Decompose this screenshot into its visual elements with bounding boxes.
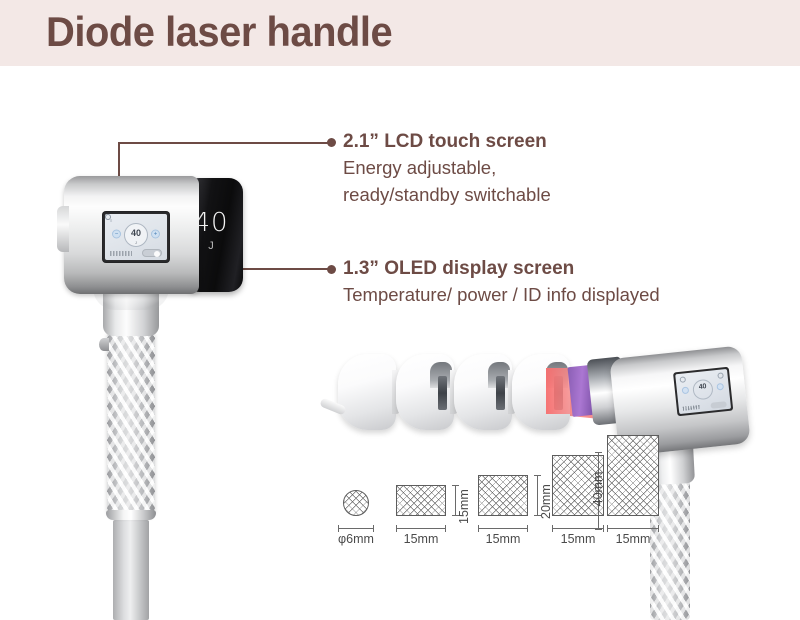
callout-title: 1.3” OLED display screen <box>343 257 660 281</box>
handpiece-grip <box>107 330 155 516</box>
dimension-label-height: 20mm <box>539 473 553 519</box>
tip-cap <box>338 354 396 430</box>
dimension-label-height-40mm: 40mm <box>591 454 605 524</box>
dimension-line-width <box>338 528 374 529</box>
dimension-line-width <box>478 528 528 529</box>
dimension-label-height: 15mm <box>457 478 471 524</box>
dimension-label-width: 15mm <box>600 532 666 546</box>
tip-window <box>496 376 505 410</box>
page-title: Diode laser handle <box>46 8 392 56</box>
spot-size-diagram: φ6mm 15mm 15mm 15mm 20mm 15mm 40mm 15mm <box>330 432 630 557</box>
spot-shape-rect <box>396 485 446 516</box>
dimension-line-height <box>537 475 538 516</box>
increase-energy-button[interactable]: + <box>151 230 160 239</box>
callout-lcd-touch-screen: 2.1” LCD touch screen Energy adjustable,… <box>343 130 551 208</box>
infographic-page: Diode laser handle 2.1” LCD touch screen… <box>0 0 800 620</box>
callout-line: ready/standby switchable <box>343 181 551 208</box>
decrease-energy-button-secondary[interactable] <box>682 386 690 394</box>
temperature-icon-secondary <box>679 376 686 383</box>
callout-oled-display-screen: 1.3” OLED display screen Temperature/ po… <box>343 257 660 308</box>
callout-line: Temperature/ power / ID info displayed <box>343 281 660 308</box>
lcd-touch-screen-secondary[interactable]: 40 <box>673 367 733 417</box>
dimension-line-width <box>607 528 659 529</box>
leader-dot-oled <box>327 265 336 274</box>
dimension-line-width <box>396 528 446 529</box>
status-bar-indicator-secondary <box>683 405 701 411</box>
dimension-label-width: 15mm <box>471 532 535 546</box>
decrease-energy-button[interactable]: − <box>112 230 121 239</box>
head-side-clip <box>57 206 69 252</box>
ready-standby-toggle[interactable] <box>142 249 162 257</box>
ready-standby-toggle-secondary[interactable] <box>710 401 727 409</box>
lcd-energy-unit: J <box>125 240 147 245</box>
lcd-energy-value-secondary: 40 <box>693 383 712 392</box>
trigger-button <box>99 338 109 351</box>
status-bar-indicator <box>110 251 132 256</box>
lcd-screen-surface-secondary[interactable]: 40 <box>675 369 731 414</box>
leader-dot-lcd <box>327 138 336 147</box>
dimension-label-width: φ6mm <box>330 532 382 546</box>
leader-line-lcd-horizontal <box>118 142 329 144</box>
lcd-touch-screen[interactable]: ≡ 40 J − + <box>102 211 170 263</box>
spot-shape-circle <box>343 490 369 516</box>
temperature-icon: ≡ <box>110 218 112 223</box>
lcd-energy-value: 40 <box>125 228 147 238</box>
handpiece-head: ≡ 40 J − + <box>64 176 199 294</box>
tip-cap <box>396 354 454 430</box>
dimension-label-width: 15mm <box>389 532 453 546</box>
lcd-screen-surface[interactable]: ≡ 40 J − + <box>105 214 167 260</box>
dimension-line-height <box>455 485 456 516</box>
spot-shape-rect <box>478 475 528 516</box>
spot-shape-rect <box>607 435 659 516</box>
increase-energy-button-secondary[interactable] <box>716 383 724 391</box>
callout-line: Energy adjustable, <box>343 154 551 181</box>
energy-dial[interactable]: 40 J <box>124 223 148 247</box>
tip-cap <box>454 354 512 430</box>
tip-window <box>438 376 447 410</box>
handpiece-neck <box>103 288 159 336</box>
handpiece-main-image: 40 J ≡ 40 J − + <box>55 168 255 620</box>
tip-lead-wire <box>319 397 346 415</box>
grip-collar-bottom <box>106 510 156 520</box>
power-icon-secondary[interactable] <box>717 372 724 379</box>
energy-dial-secondary[interactable]: 40 <box>692 379 714 401</box>
callout-title: 2.1” LCD touch screen <box>343 130 551 154</box>
handpiece-cable <box>113 520 149 620</box>
